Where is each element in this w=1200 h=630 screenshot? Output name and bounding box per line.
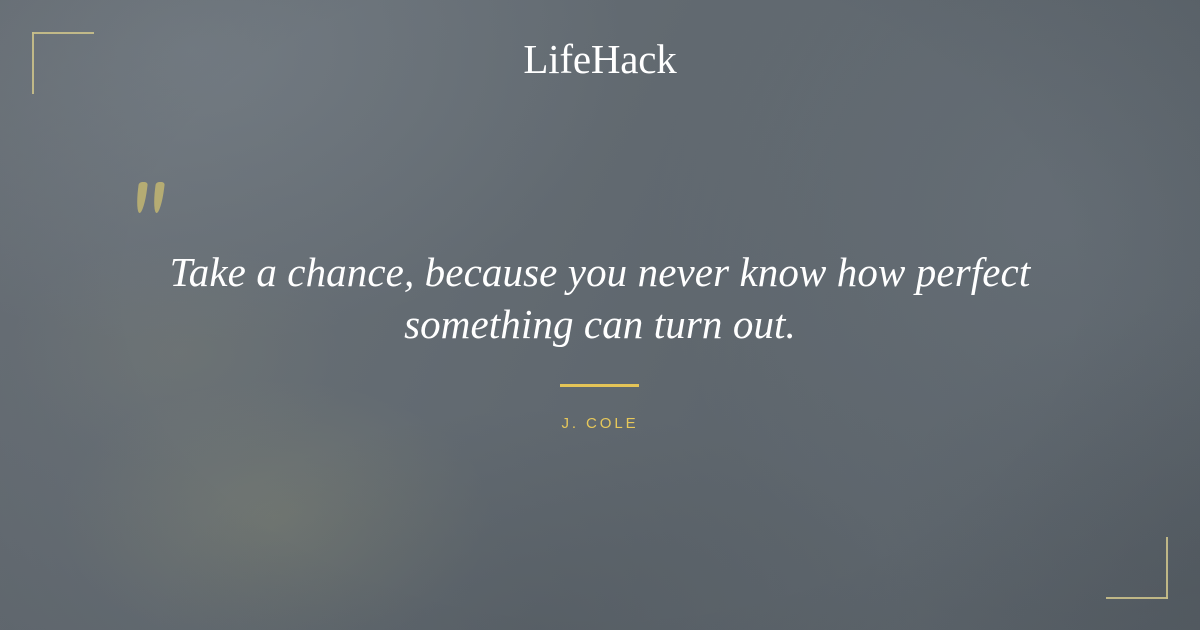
corner-bracket-horizontal-line: [32, 32, 94, 34]
quote-text: Take a chance, because you never know ho…: [100, 246, 1100, 350]
quote-line-2: something can turn out.: [100, 298, 1100, 350]
quote-line-1: Take a chance, because you never know ho…: [100, 246, 1100, 298]
corner-bracket-bottom-right-icon: [1106, 537, 1168, 599]
corner-bracket-vertical-line: [1166, 537, 1168, 599]
quote-card: LifeHack Take a chance, because you neve…: [0, 0, 1200, 630]
quote-stroke-left: [135, 182, 148, 213]
brand-logo: LifeHack: [0, 39, 1200, 80]
quote-author: J. COLE: [0, 415, 1200, 432]
corner-bracket-horizontal-line: [1106, 597, 1168, 599]
double-quote-icon: [131, 163, 177, 219]
quote-stroke-right: [152, 182, 165, 213]
accent-divider: [560, 384, 639, 387]
